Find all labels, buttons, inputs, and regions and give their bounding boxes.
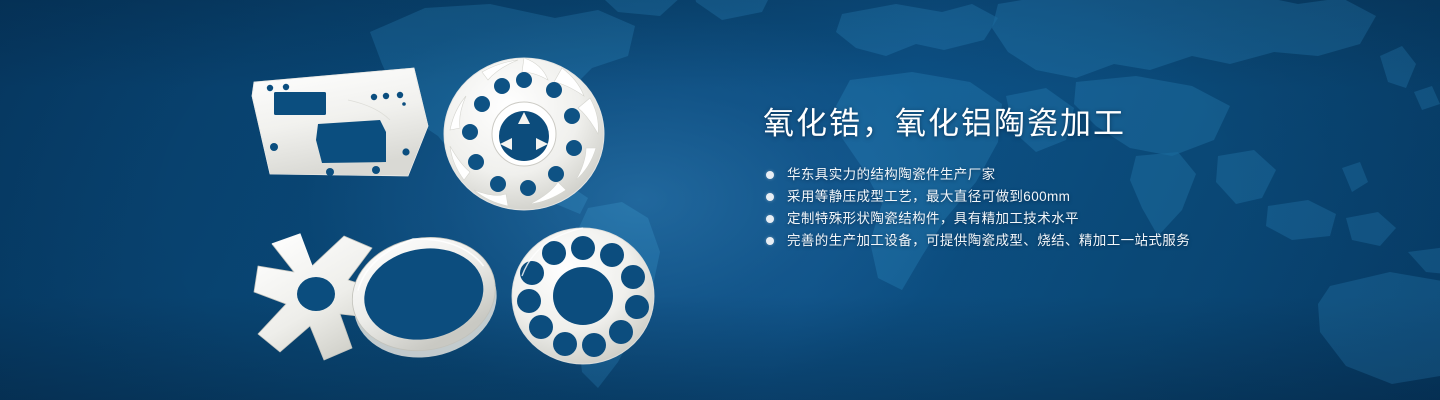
list-item: 完善的生产加工设备，可提供陶瓷成型、烧结、精加工一站式服务: [763, 230, 1323, 252]
bullet-dot-icon: [766, 237, 774, 245]
list-item: 华东具实力的结构陶瓷件生产厂家: [763, 164, 1323, 186]
bullet-dot-icon: [766, 215, 774, 223]
hero-banner: 氧化锆，氧化铝陶瓷加工 华东具实力的结构陶瓷件生产厂家 采用等静压成型工艺，最大…: [0, 0, 1440, 400]
list-item: 定制特殊形状陶瓷结构件，具有精加工技术水平: [763, 208, 1323, 230]
ceramic-disc-image: [508, 222, 658, 370]
ceramic-ring-image: [338, 222, 510, 368]
bullet-dot-icon: [766, 171, 774, 179]
banner-headline: 氧化锆，氧化铝陶瓷加工: [763, 104, 1323, 144]
list-item-label: 完善的生产加工设备，可提供陶瓷成型、烧结、精加工一站式服务: [787, 233, 1190, 248]
bullet-dot-icon: [766, 193, 774, 201]
ceramic-plate-image: [248, 62, 434, 182]
list-item-label: 采用等静压成型工艺，最大直径可做到600mm: [787, 189, 1070, 204]
list-item-label: 华东具实力的结构陶瓷件生产厂家: [787, 167, 996, 182]
feature-list: 华东具实力的结构陶瓷件生产厂家 采用等静压成型工艺，最大直径可做到600mm 定…: [763, 164, 1323, 252]
list-item-label: 定制特殊形状陶瓷结构件，具有精加工技术水平: [787, 211, 1079, 226]
ceramic-impeller-image: [438, 46, 610, 218]
product-image-group: [0, 0, 720, 400]
list-item: 采用等静压成型工艺，最大直径可做到600mm: [763, 186, 1323, 208]
banner-content: 氧化锆，氧化铝陶瓷加工 华东具实力的结构陶瓷件生产厂家 采用等静压成型工艺，最大…: [763, 104, 1323, 252]
